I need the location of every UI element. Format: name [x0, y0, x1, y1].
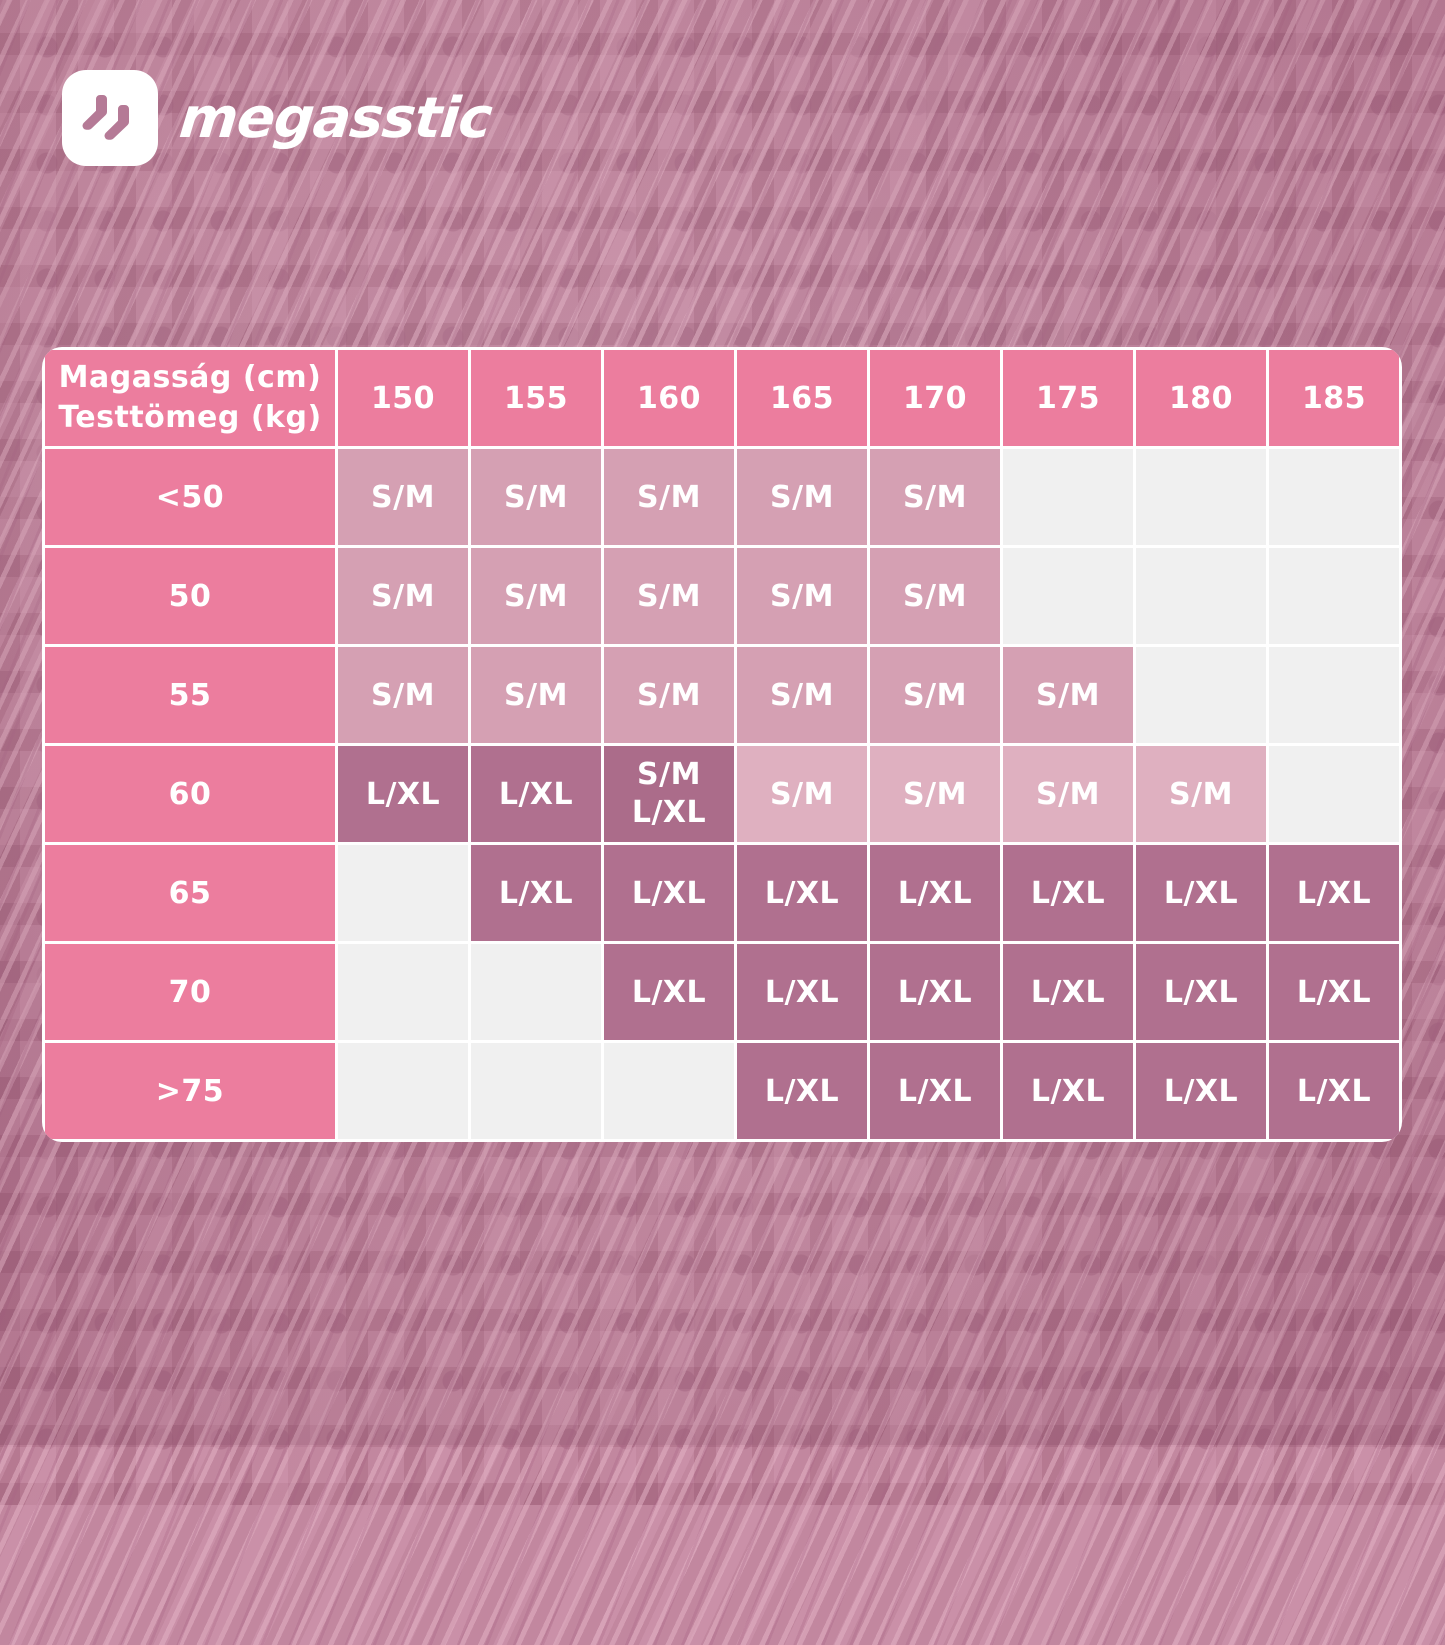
size-cell-60-165: S/M: [737, 746, 867, 842]
row-header-65: 65: [45, 845, 335, 941]
size-value-secondary: L/XL: [604, 794, 734, 832]
weight-axis-label: Testtömeg (kg): [45, 398, 335, 438]
size-cell-empty: [1003, 548, 1133, 644]
row-header-50: 50: [45, 548, 335, 644]
size-cell-empty: [1003, 449, 1133, 545]
size-cell-<50-170: S/M: [870, 449, 1000, 545]
row-header-55: 55: [45, 647, 335, 743]
size-cell-empty: [471, 944, 601, 1040]
column-header-160: 160: [604, 350, 734, 446]
table-row: 50S/MS/MS/MS/MS/M: [45, 548, 1399, 644]
size-value-primary: S/M: [604, 756, 734, 794]
size-cell-70-180: L/XL: [1136, 944, 1266, 1040]
size-cell-<50-155: S/M: [471, 449, 601, 545]
size-cell-65-175: L/XL: [1003, 845, 1133, 941]
height-axis-label: Magasság (cm): [45, 358, 335, 398]
size-cell-70-160: L/XL: [604, 944, 734, 1040]
size-cell-60-160: S/ML/XL: [604, 746, 734, 842]
size-cell-70-175: L/XL: [1003, 944, 1133, 1040]
size-cell-55-155: S/M: [471, 647, 601, 743]
size-cell-<50-165: S/M: [737, 449, 867, 545]
size-cell-55-165: S/M: [737, 647, 867, 743]
size-cell-60-155: L/XL: [471, 746, 601, 842]
size-cell-65-185: L/XL: [1269, 845, 1399, 941]
table-header-row: Magasság (cm)Testtömeg (kg)1501551601651…: [45, 350, 1399, 446]
table-row: <50S/MS/MS/MS/MS/M: [45, 449, 1399, 545]
size-cell-empty: [604, 1043, 734, 1139]
size-cell->75-175: L/XL: [1003, 1043, 1133, 1139]
size-cell-empty: [1136, 548, 1266, 644]
size-chart-table: Magasság (cm)Testtömeg (kg)1501551601651…: [42, 347, 1402, 1142]
size-cell-50-170: S/M: [870, 548, 1000, 644]
size-cell-65-170: L/XL: [870, 845, 1000, 941]
size-cell-65-155: L/XL: [471, 845, 601, 941]
column-header-175: 175: [1003, 350, 1133, 446]
size-cell-empty: [1269, 647, 1399, 743]
size-cell-70-165: L/XL: [737, 944, 867, 1040]
column-header-185: 185: [1269, 350, 1399, 446]
size-cell-50-150: S/M: [338, 548, 468, 644]
row-header-70: 70: [45, 944, 335, 1040]
table-row: 65L/XLL/XLL/XLL/XLL/XLL/XLL/XL: [45, 845, 1399, 941]
size-cell-65-165: L/XL: [737, 845, 867, 941]
size-cell-70-185: L/XL: [1269, 944, 1399, 1040]
size-cell-50-155: S/M: [471, 548, 601, 644]
size-cell-empty: [471, 1043, 601, 1139]
axis-legend-cell: Magasság (cm)Testtömeg (kg): [45, 350, 335, 446]
size-cell-empty: [1269, 449, 1399, 545]
size-cell->75-185: L/XL: [1269, 1043, 1399, 1139]
size-cell->75-180: L/XL: [1136, 1043, 1266, 1139]
row-header-60: 60: [45, 746, 335, 842]
column-header-150: 150: [338, 350, 468, 446]
size-cell-65-180: L/XL: [1136, 845, 1266, 941]
size-cell-65-160: L/XL: [604, 845, 734, 941]
size-cell-60-180: S/M: [1136, 746, 1266, 842]
brand-logo: megasstic: [62, 70, 491, 166]
table-row: 70L/XLL/XLL/XLL/XLL/XLL/XL: [45, 944, 1399, 1040]
brand-name: megasstic: [177, 86, 495, 151]
column-header-180: 180: [1136, 350, 1266, 446]
size-cell->75-165: L/XL: [737, 1043, 867, 1139]
size-cell-50-165: S/M: [737, 548, 867, 644]
size-cell-empty: [1269, 548, 1399, 644]
row-header-<50: <50: [45, 449, 335, 545]
column-header-155: 155: [471, 350, 601, 446]
size-cell->75-170: L/XL: [870, 1043, 1000, 1139]
column-header-165: 165: [737, 350, 867, 446]
size-cell-<50-150: S/M: [338, 449, 468, 545]
size-cell-55-175: S/M: [1003, 647, 1133, 743]
table-row: >75L/XLL/XLL/XLL/XLL/XL: [45, 1043, 1399, 1139]
table-row: 60L/XLL/XLS/ML/XLS/MS/MS/MS/M: [45, 746, 1399, 842]
size-cell-70-170: L/XL: [870, 944, 1000, 1040]
size-cell-60-170: S/M: [870, 746, 1000, 842]
size-cell-55-160: S/M: [604, 647, 734, 743]
column-header-170: 170: [870, 350, 1000, 446]
size-cell-empty: [338, 845, 468, 941]
size-cell-empty: [338, 944, 468, 1040]
size-cell-55-150: S/M: [338, 647, 468, 743]
row-header->75: >75: [45, 1043, 335, 1139]
size-cell-empty: [1269, 746, 1399, 842]
table-row: 55S/MS/MS/MS/MS/MS/M: [45, 647, 1399, 743]
size-cell-empty: [338, 1043, 468, 1139]
size-cell-60-175: S/M: [1003, 746, 1133, 842]
size-cell-50-160: S/M: [604, 548, 734, 644]
size-cell-60-150: L/XL: [338, 746, 468, 842]
size-cell-<50-160: S/M: [604, 449, 734, 545]
size-chart-card: Magasság (cm)Testtömeg (kg)1501551601651…: [42, 347, 1402, 1142]
size-cell-empty: [1136, 449, 1266, 545]
size-cell-55-170: S/M: [870, 647, 1000, 743]
double-chevron-icon: [62, 70, 158, 166]
size-cell-empty: [1136, 647, 1266, 743]
